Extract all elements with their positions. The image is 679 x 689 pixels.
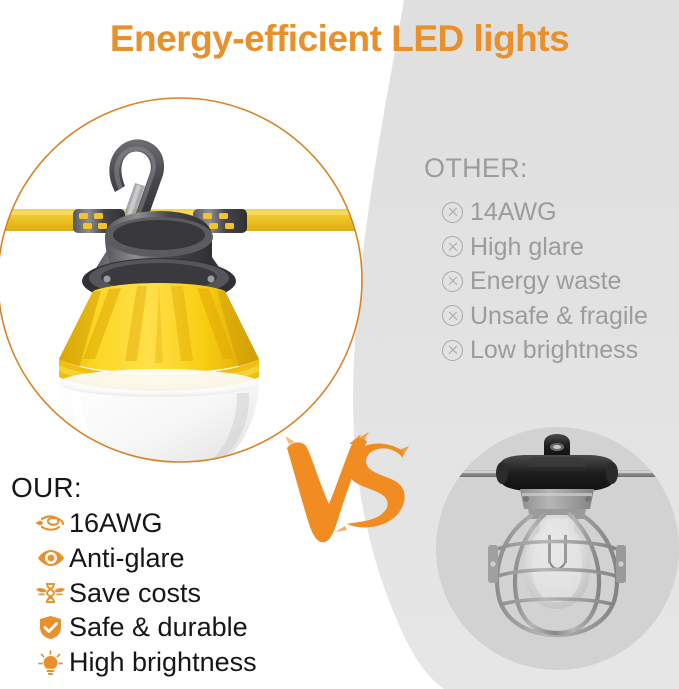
our-heading: OUR: [11, 472, 257, 504]
cable-wire-icon [36, 509, 65, 538]
eye-icon [36, 544, 65, 573]
other-feature-list: OTHER: 14AWG High glare Energy waste Uns… [424, 153, 648, 370]
other-heading: OTHER: [424, 153, 648, 184]
shield-check-icon [36, 613, 65, 642]
our-feature-list: OUR: 16AWG [11, 472, 257, 680]
other-item-label: 14AWG [470, 197, 557, 228]
our-led-light-photo [0, 97, 363, 463]
page-title: Energy-efficient LED lights [0, 18, 679, 60]
other-list-item: High glare [442, 232, 648, 263]
our-list-item: High brightness [36, 645, 257, 680]
circled-x-icon [442, 236, 463, 257]
infographic-canvas: Energy-efficient LED lights [0, 0, 679, 689]
circled-x-icon [442, 271, 463, 292]
winged-hourglass-icon [36, 579, 65, 608]
circled-x-icon [442, 202, 463, 223]
our-item-label: High brightness [69, 645, 257, 680]
other-item-label: High glare [470, 232, 584, 263]
diffuser-dome [59, 369, 259, 463]
versus-graphic [285, 432, 410, 547]
other-item-label: Unsafe & fragile [470, 301, 648, 332]
our-list-item: Anti-glare [36, 541, 257, 576]
our-list-item: 16AWG [36, 506, 257, 541]
other-item-label: Energy waste [470, 266, 621, 297]
our-item-label: 16AWG [69, 506, 163, 541]
other-list-item: Low brightness [442, 335, 648, 366]
other-list-item: 14AWG [442, 197, 648, 228]
our-item-label: Save costs [69, 576, 201, 611]
our-list-item: Save costs [36, 576, 257, 611]
our-item-label: Safe & durable [69, 610, 248, 645]
competitor-caged-bulb-photo [436, 427, 679, 670]
other-list-item: Unsafe & fragile [442, 301, 648, 332]
our-item-label: Anti-glare [69, 541, 185, 576]
other-item-label: Low brightness [470, 335, 638, 366]
circled-x-icon [442, 305, 463, 326]
circled-x-icon [442, 340, 463, 361]
other-list-item: Energy waste [442, 266, 648, 297]
bulb-rays-icon [36, 648, 65, 677]
our-list-item: Safe & durable [36, 610, 257, 645]
